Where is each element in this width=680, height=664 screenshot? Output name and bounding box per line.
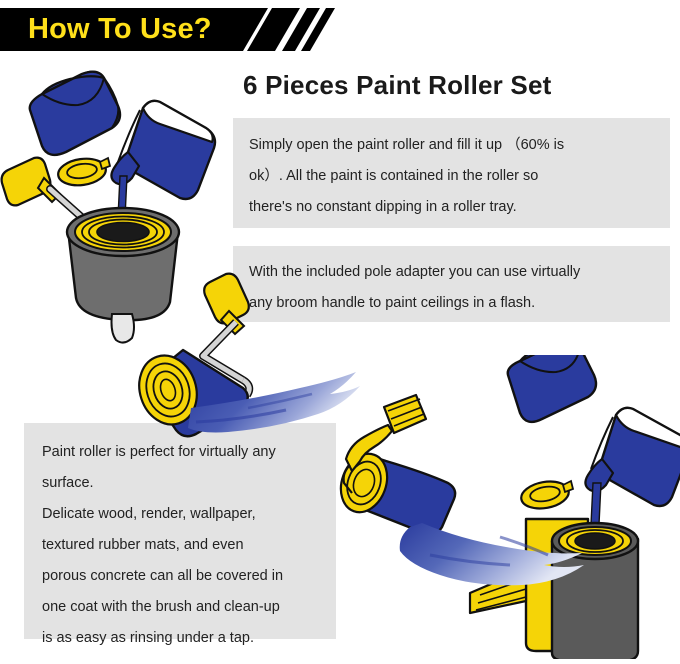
feature-line: there's no constant dipping in a roller … bbox=[249, 192, 654, 223]
yellow-handle-rod-top-left bbox=[2, 158, 96, 230]
feature-line: Paint roller is perfect for virtually an… bbox=[42, 437, 320, 468]
illustration-roll-and-refill bbox=[330, 355, 680, 659]
paint-stream-bottom-right bbox=[590, 483, 601, 545]
blue-paint-can-bottom-right bbox=[508, 355, 596, 422]
feature-line: is as easy as rinsing under a tap. bbox=[42, 623, 320, 654]
feature-line: Delicate wood, render, wallpaper, bbox=[42, 499, 320, 530]
paint-stream-top-left bbox=[117, 176, 127, 238]
product-title: 6 Pieces Paint Roller Set bbox=[243, 70, 551, 101]
feature-block-fill: Simply open the paint roller and fill it… bbox=[233, 118, 670, 228]
pole-adapter-oval-top-left bbox=[56, 156, 110, 188]
pouring-paint-container-bottom-right bbox=[585, 408, 680, 506]
feature-line: surface. bbox=[42, 468, 320, 499]
feature-line: ok）. All the paint is contained in the r… bbox=[249, 161, 654, 192]
banner-title: How To Use? bbox=[28, 8, 258, 51]
feature-line: With the included pole adapter you can u… bbox=[249, 257, 654, 288]
feature-block-surface: Paint roller is perfect for virtually an… bbox=[24, 423, 336, 639]
feature-block-pole: With the included pole adapter you can u… bbox=[233, 246, 670, 322]
dark-roller-drum-filling bbox=[470, 519, 638, 659]
feature-line: Simply open the paint roller and fill it… bbox=[249, 130, 654, 161]
gray-roller-drum-filling bbox=[67, 208, 179, 343]
feature-line: one coat with the brush and clean-up bbox=[42, 592, 320, 623]
blue-roller-painting bbox=[131, 274, 250, 437]
feature-line: textured rubber mats, and even bbox=[42, 530, 320, 561]
feature-line: porous concrete can all be covered in bbox=[42, 561, 320, 592]
blue-paint-stroke-wide bbox=[400, 523, 584, 585]
blue-roller-painting-wide bbox=[333, 395, 455, 534]
blue-paint-can-top-left bbox=[30, 72, 120, 155]
pouring-paint-container-top-left bbox=[111, 101, 215, 199]
feature-line: any broom handle to paint ceilings in a … bbox=[249, 288, 654, 319]
pole-adapter-oval-bottom-right bbox=[519, 478, 573, 512]
